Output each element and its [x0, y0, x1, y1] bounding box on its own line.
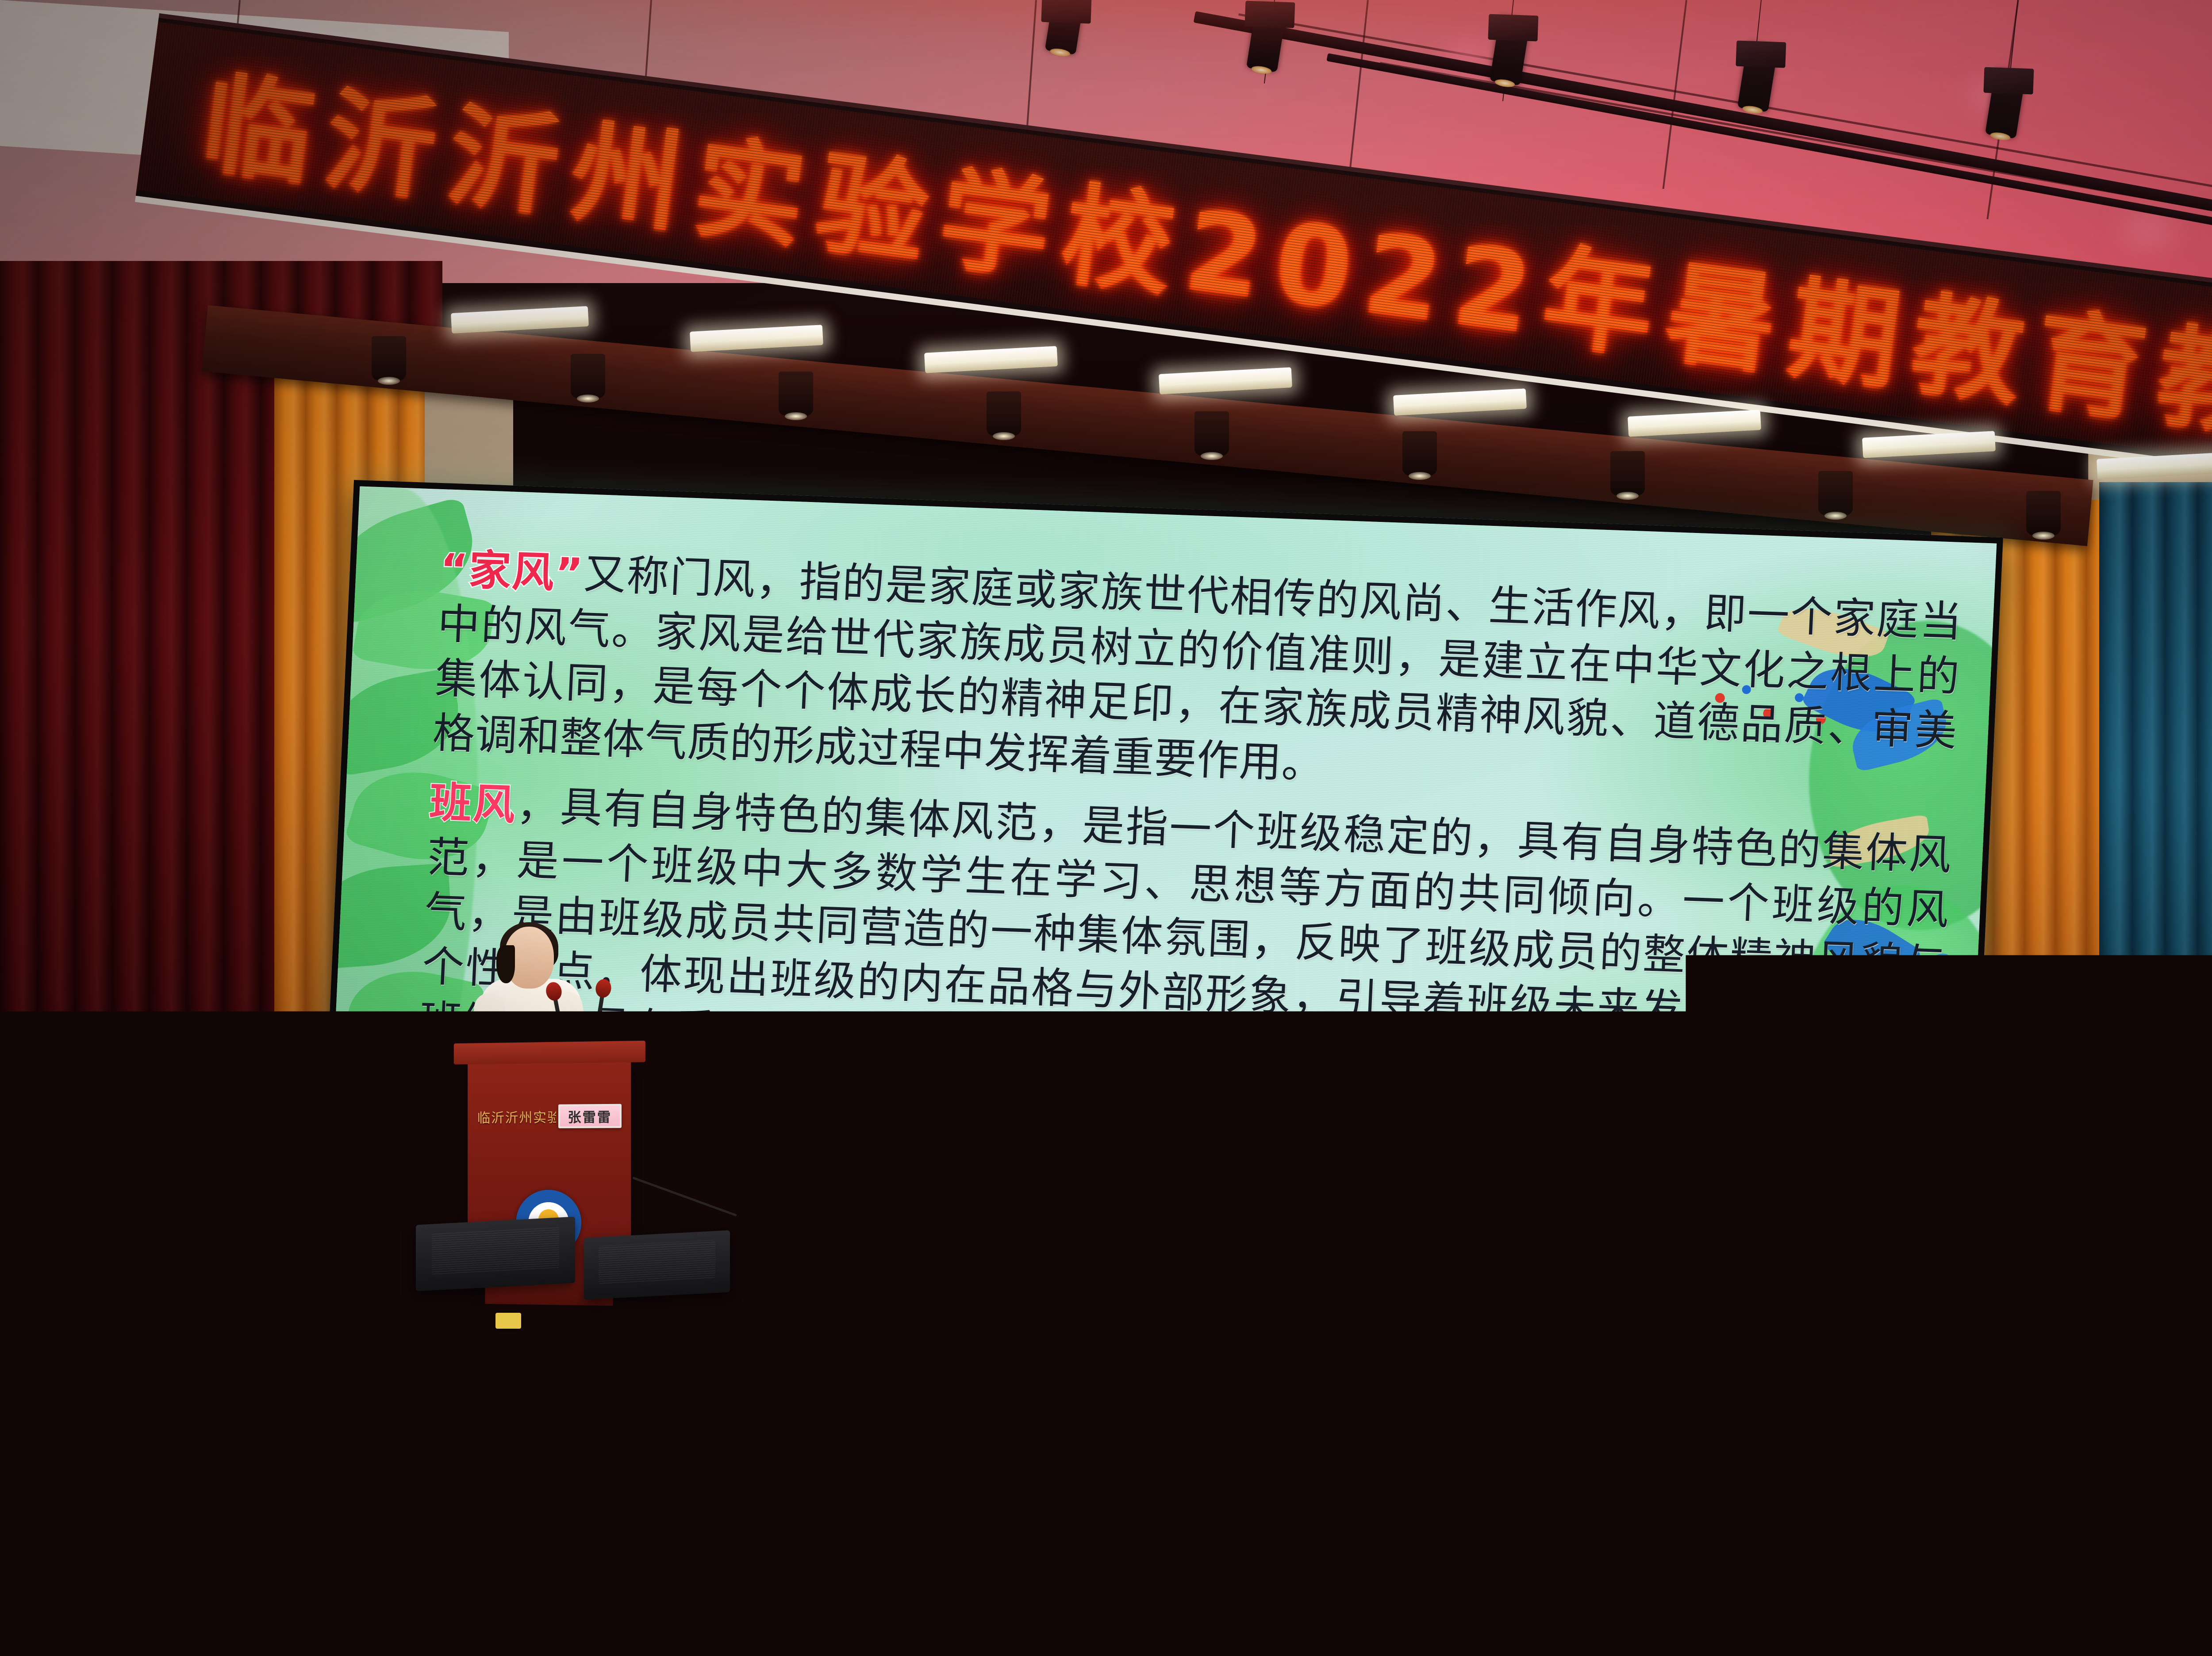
stage-par-can	[2026, 491, 2061, 535]
slide-keyword-jiafeng: “家风”	[439, 545, 584, 598]
podium-nameplate-text: 张雷雷	[568, 1106, 612, 1126]
stage-par-can	[779, 372, 813, 416]
stage-par-can	[1610, 451, 1645, 495]
audience-head	[1694, 1340, 1774, 1460]
presenter-hair-side	[496, 945, 515, 983]
stage-monitor-speaker	[584, 1230, 730, 1299]
podium-top-surface	[454, 1041, 645, 1065]
audience-member-foreground: ANYTHING	[1071, 1269, 1540, 1656]
audience-head	[945, 1283, 1029, 1415]
audience-member	[907, 1283, 1066, 1592]
wall-power-outlet	[447, 1367, 489, 1396]
audience-head	[1972, 1300, 2051, 1424]
cable-tape-marker	[495, 1313, 521, 1329]
stage-work-light	[1862, 431, 1996, 458]
stage-work-light	[1393, 388, 1527, 416]
slide-paragraph-2: 班风，具有自身特色的集体风范，是指一个班级稳定的，具有自身特色的集体风范，是一个…	[419, 775, 1953, 1101]
stage-cabinet-panel	[646, 1321, 805, 1437]
power-strip	[816, 1255, 878, 1273]
stage-work-light	[451, 306, 589, 333]
cable-tape-marker	[2203, 1211, 2212, 1227]
stage-work-light	[1628, 410, 1761, 437]
slide-text-body: “家风”又称门风，指的是家庭或家族世代相传的风尚、生活作风，即一个家庭当中的风气…	[418, 542, 1963, 1116]
stage-par-can	[571, 354, 605, 398]
stage-work-light	[690, 325, 823, 352]
jacket-print-text: ANYTHING	[1123, 1525, 1448, 1591]
audience-long-hair	[1199, 1269, 1389, 1552]
stage-par-can	[1194, 411, 1229, 456]
stage-monitor-speaker	[2141, 1147, 2212, 1229]
audience-long-hair	[2057, 1331, 2185, 1539]
stage-par-can	[372, 336, 406, 380]
stage-par-can	[987, 391, 1021, 436]
stage-par-can	[1818, 471, 1853, 515]
slide-keyword-banfeng: 班风	[429, 778, 518, 830]
auditorium-seat	[75, 1517, 261, 1656]
outlet-slot	[465, 1376, 473, 1388]
outlet-slot	[477, 1376, 485, 1388]
stage-monitor-speaker	[416, 1217, 575, 1292]
audience-member	[2048, 1331, 2212, 1656]
cable-tape-marker	[1018, 1263, 1043, 1279]
stage-speaker-recess	[522, 1329, 650, 1418]
audience-member	[1663, 1340, 1805, 1650]
stage-work-light	[1159, 367, 1292, 395]
stage-work-light	[924, 346, 1058, 373]
audience-head	[1597, 1234, 1679, 1358]
cable-tape-marker	[1146, 1250, 1171, 1266]
auditorium-photo-scene: 临沂沂州实验学校2022年暑期教育教学论坛	[0, 0, 2212, 1656]
audience-torso	[907, 1402, 1066, 1592]
podium-school-engraving: 临沂沂州实验学校	[477, 1107, 556, 1125]
slide-paragraph-2-body: ，具有自身特色的集体风范，是指一个班级稳定的，具有自身特色的集体风范，是一个班级…	[419, 781, 1952, 1066]
podium-nameplate: 张雷雷	[558, 1104, 622, 1128]
stage-par-can	[1402, 431, 1437, 475]
audience-torso	[1659, 1446, 1818, 1650]
outlet-slot	[454, 1376, 462, 1388]
